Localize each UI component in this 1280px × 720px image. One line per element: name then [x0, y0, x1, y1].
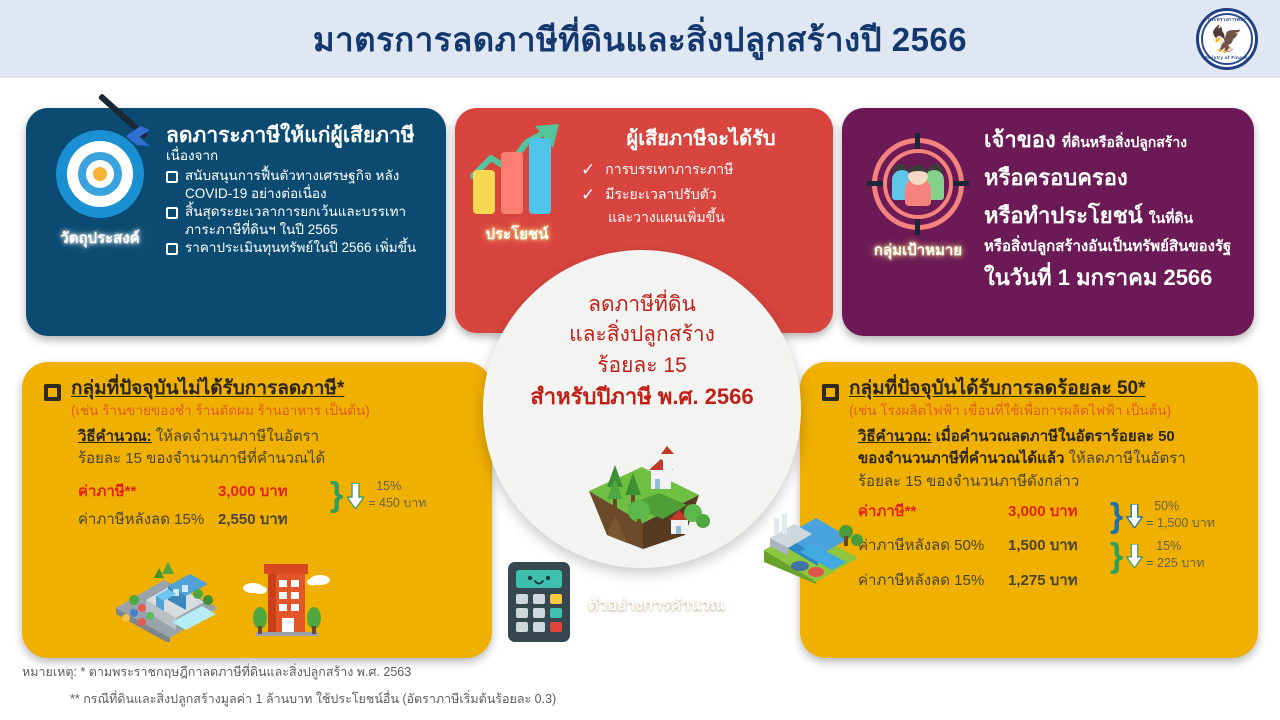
left-method-text-1: ให้ลดจำนวนภาษีในอัตรา: [156, 428, 319, 445]
objective-body: ลดภาระภาษีให้แก่ผู้เสียภาษี เนื่องจาก สน…: [166, 124, 432, 258]
down-arrow-icon: [1126, 504, 1143, 528]
list-item: ✓ มีระยะเวลาปรับตัว: [581, 185, 821, 204]
benefit-body: ผู้เสียภาษีจะได้รับ ✓ การบรรเทาภาระภาษี …: [581, 122, 821, 229]
target-group-icon-column: กลุ่มเป้าหมาย: [856, 138, 980, 262]
footer-note-1: หมายเหตุ: * ตามพระราชกฤษฎีกาลดภาษีที่ดิน…: [22, 662, 1022, 682]
right-arrow-eq-2: = 225 บาท: [1146, 553, 1204, 573]
target-group-line1: เจ้าของ ที่ดินหรือสิ่งปลูกสร้าง: [984, 122, 1244, 157]
floating-island-houses-icon: [567, 443, 717, 558]
checkbox-square-icon: [166, 207, 178, 219]
right-fig-label-1: ค่าภาษี**: [858, 499, 1008, 523]
bar-chart-growth-icon: [469, 126, 565, 214]
right-method-label: วิธีคำนวณ:: [858, 428, 932, 445]
center-text: ลดภาษีที่ดิน และสิ่งปลูกสร้าง ร้อยละ 15 …: [483, 290, 801, 413]
right-method-line-1: วิธีคำนวณ: เมื่อคำนวณลดภาษีในอัตราร้อยละ…: [858, 426, 1246, 449]
card-objective: วัตถุประสงค์ ลดภาระภาษีให้แก่ผู้เสียภาษี…: [26, 108, 446, 336]
center-line-2: และสิ่งปลูกสร้าง: [483, 320, 801, 350]
right-method-text-2: ของจำนวนภาษีที่คำนวณได้แล้ว: [858, 450, 1064, 467]
curly-brace-icon: }: [1110, 543, 1123, 570]
left-fig-label-2: ค่าภาษีหลังลด 15%: [78, 507, 218, 531]
left-panel-head: กลุ่มที่ปัจจุบันไม่ได้รับการลดภาษี* (เช่…: [22, 362, 492, 420]
left-method-label: วิธีคำนวณ:: [78, 428, 152, 445]
right-panel-method: วิธีคำนวณ: เมื่อคำนวณลดภาษีในอัตราร้อยละ…: [800, 420, 1258, 494]
target-group-line1-big: เจ้าของ: [984, 127, 1056, 152]
list-item: ราคาประเมินทุนทรัพย์ในปี 2566 เพิ่มขึ้น: [166, 239, 432, 257]
target-group-line3: หรือทำประโยชน์ ในที่ดิน: [984, 198, 1244, 233]
right-method-line-3: ร้อยละ 15 ของจำนวนภาษีดังกล่าว: [858, 471, 1246, 494]
objective-bullet-1: สนับสนุนการฟื้นตัวทางเศรษฐกิจ หลัง COVID…: [185, 167, 432, 202]
right-arrow-eq-1: = 1,500 บาท: [1146, 513, 1215, 533]
ministry-of-finance-logo-icon: กระทรวงการคลัง 🦅 Ministry of Finance: [1196, 8, 1258, 70]
left-method-line-2: ร้อยละ 15 ของจำนวนภาษีที่คำนวณได้: [78, 448, 478, 471]
table-row: ค่าภาษี** 3,000 บาท: [78, 479, 326, 503]
left-fig-value-1: 3,000 บาท: [218, 479, 288, 503]
check-icon: ✓: [581, 161, 595, 178]
power-plant-icon: [754, 488, 874, 589]
checkbox-square-icon: [822, 384, 839, 401]
calc-example-caption: ตัวอย่างการคำนวณ: [588, 593, 725, 618]
down-arrow-icon: [347, 483, 364, 509]
list-item: สนับสนุนการฟื้นตัวทางเศรษฐกิจ หลัง COVID…: [166, 167, 432, 202]
target-group-line4: หรือสิ่งปลูกสร้างอันเป็นทรัพย์สินของรัฐ: [984, 234, 1244, 258]
target-arrow-icon: [56, 130, 144, 218]
people-target-icon: [872, 138, 964, 230]
table-row: ค่าภาษีหลังลด 15% 1,275 บาท: [858, 568, 1108, 592]
left-panel-example: (เช่น ร้านขายของชำ ร้านตัดผม ร้านอาหาร เ…: [71, 403, 370, 420]
logo-bottom-label: Ministry of Finance: [1203, 55, 1251, 60]
benefit-icon-column: ประโยชน์: [457, 126, 577, 246]
right-fig-value-3: 1,275 บาท: [1008, 568, 1078, 592]
card-target-group: กลุ่มเป้าหมาย เจ้าของ ที่ดินหรือสิ่งปลูก…: [842, 108, 1254, 336]
apartment-building-icon: [238, 548, 334, 649]
right-method-line-2: ของจำนวนภาษีที่คำนวณได้แล้ว ให้ลดภาษีในอ…: [858, 448, 1246, 471]
target-group-body: เจ้าของ ที่ดินหรือสิ่งปลูกสร้าง หรือครอบ…: [984, 122, 1244, 295]
target-group-line1-small: ที่ดินหรือสิ่งปลูกสร้าง: [1062, 134, 1187, 150]
left-fig-label-1: ค่าภาษี**: [78, 479, 218, 503]
right-panel-head: กลุ่มที่ปัจจุบันได้รับการลดร้อยละ 50* (เ…: [800, 362, 1258, 420]
left-method-line-1: วิธีคำนวณ: ให้ลดจำนวนภาษีในอัตรา: [78, 426, 478, 449]
checkbox-square-icon: [166, 243, 178, 255]
benefit-check-tail: และวางแผนเพิ่มขึ้น: [581, 207, 821, 229]
garuda-glyph-icon: 🦅: [1211, 26, 1243, 52]
left-fig-value-2: 2,550 บาท: [218, 507, 288, 531]
objective-bullet-2: สิ้นสุดระยะเวลาการยกเว้นและบรรเทาภาระภาษ…: [185, 203, 432, 238]
target-group-line3-small: ในที่ดิน: [1149, 210, 1193, 226]
target-group-line2: หรือครอบครอง: [984, 160, 1244, 195]
page-title: มาตรการลดภาษีที่ดินและสิ่งปลูกสร้างปี 25…: [313, 13, 967, 66]
list-item: สิ้นสุดระยะเวลาการยกเว้นและบรรเทาภาระภาษ…: [166, 203, 432, 238]
right-arrow-pct-2: 15%: [1146, 539, 1204, 553]
objective-subheading: เนื่องจาก: [166, 148, 432, 165]
footer-notes: หมายเหตุ: * ตามพระราชกฤษฎีกาลดภาษีที่ดิน…: [22, 662, 1022, 709]
center-line-1: ลดภาษีที่ดิน: [483, 290, 801, 320]
logo-top-label: กระทรวงการคลัง: [1203, 17, 1251, 24]
right-method-text-2-tail: ให้ลดภาษีในอัตรา: [1069, 450, 1186, 467]
objective-bullet-3: ราคาประเมินทุนทรัพย์ในปี 2566 เพิ่มขึ้น: [185, 239, 416, 257]
left-panel-figures: ค่าภาษี** 3,000 บาท ค่าภาษีหลังลด 15% 2,…: [22, 471, 492, 531]
target-group-line5: ในวันที่ 1 มกราคม 2566: [984, 260, 1244, 295]
table-row: ค่าภาษีหลังลด 50% 1,500 บาท: [858, 533, 1108, 557]
target-group-badge-label: กลุ่มเป้าหมาย: [874, 238, 962, 262]
footer-note-2: ** กรณีที่ดินและสิ่งปลูกสร้างมูลค่า 1 ล้…: [22, 689, 1022, 709]
shopping-mall-icon: [112, 556, 222, 647]
right-fig-label-2: ค่าภาษีหลังลด 50%: [858, 533, 1008, 557]
center-line-3: ร้อยละ 15: [483, 351, 801, 381]
objective-heading: ลดภาระภาษีให้แก่ผู้เสียภาษี: [166, 124, 432, 148]
curly-brace-icon: }: [330, 482, 343, 509]
checkbox-square-icon: [166, 171, 178, 183]
left-panel-method: วิธีคำนวณ: ให้ลดจำนวนภาษีในอัตรา ร้อยละ …: [22, 420, 492, 471]
target-group-line3-big: หรือทำประโยชน์: [984, 203, 1143, 228]
table-row: ค่าภาษี** 3,000 บาท: [858, 499, 1108, 523]
list-item: ✓ การบรรเทาภาระภาษี: [581, 160, 821, 179]
infographic-page: มาตรการลดภาษีที่ดินและสิ่งปลูกสร้างปี 25…: [0, 0, 1280, 720]
center-line-bold: สำหรับปีภาษี พ.ศ. 2566: [483, 381, 801, 413]
benefit-heading: ผู้เสียภาษีจะได้รับ: [581, 122, 821, 154]
checkbox-square-icon: [44, 384, 61, 401]
curly-brace-icon: }: [1110, 503, 1123, 530]
right-fig-value-1: 3,000 บาท: [1008, 499, 1078, 523]
benefit-check-2: มีระยะเวลาปรับตัว: [605, 185, 716, 204]
check-icon: ✓: [581, 186, 595, 203]
objective-icon-column: วัตถุประสงค์: [36, 130, 164, 250]
left-arrow-eq: = 450 บาท: [368, 493, 426, 513]
right-fig-label-3: ค่าภาษีหลังลด 15%: [858, 568, 1008, 592]
calculator-icon: [508, 562, 570, 647]
table-row: ค่าภาษีหลังลด 15% 2,550 บาท: [78, 507, 326, 531]
down-arrow-icon: [1126, 544, 1143, 568]
right-fig-value-2: 1,500 บาท: [1008, 533, 1078, 557]
right-arrow-pct-1: 50%: [1146, 499, 1215, 513]
benefit-check-1: การบรรเทาภาระภาษี: [605, 160, 733, 179]
right-panel-title: กลุ่มที่ปัจจุบันได้รับการลดร้อยละ 50*: [849, 378, 1171, 401]
benefit-badge-label: ประโยชน์: [486, 222, 549, 246]
right-method-text-1: เมื่อคำนวณลดภาษีในอัตราร้อยละ 50: [936, 428, 1175, 445]
left-arrow-pct: 15%: [368, 479, 426, 493]
left-panel-title: กลุ่มที่ปัจจุบันไม่ได้รับการลดภาษี*: [71, 378, 370, 401]
page-header: มาตรการลดภาษีที่ดินและสิ่งปลูกสร้างปี 25…: [0, 0, 1280, 78]
right-panel-example: (เช่น โรงผลิตไฟฟ้า เขื่อนที่ใช้เพื่อการผ…: [849, 403, 1171, 420]
objective-badge-label: วัตถุประสงค์: [60, 226, 139, 250]
objective-bullet-list: สนับสนุนการฟื้นตัวทางเศรษฐกิจ หลัง COVID…: [166, 167, 432, 257]
